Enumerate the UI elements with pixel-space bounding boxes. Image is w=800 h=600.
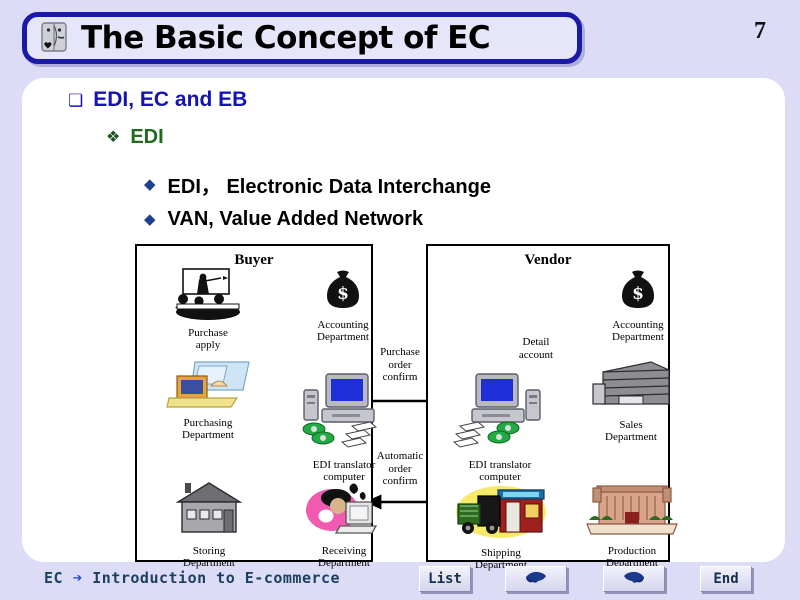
computer-with-disks-icon: [294, 372, 394, 457]
node-accounting-department-buyer-caption: Accounting Department: [305, 319, 381, 344]
node-production-department: Production Department: [582, 482, 682, 570]
node-accounting-department-vendor: $ Accounting Department: [600, 268, 676, 344]
previous-button[interactable]: [505, 566, 567, 592]
node-accounting-department-vendor-caption: Accounting Department: [600, 319, 676, 344]
meeting-presentation-icon: [162, 268, 254, 325]
node-purchasing-department: Purchasing Department: [160, 360, 256, 442]
money-bag-icon: $: [600, 268, 676, 317]
page-title: The Basic Concept of EC: [81, 23, 490, 54]
computer-with-disks-icon: [450, 372, 550, 457]
node-edi-translator-computer-vendor: EDI translator computer: [450, 372, 550, 484]
node-accounting-department-buyer: $ Accounting Department: [305, 268, 381, 344]
list-button-label: List: [428, 571, 462, 587]
next-button[interactable]: [603, 566, 665, 592]
node-storing-department-caption: Storing Department: [166, 545, 252, 570]
end-button-label: End: [713, 571, 738, 587]
slide-title-box: The Basic Concept of EC: [22, 12, 582, 64]
panel-vendor-title: Vendor: [428, 252, 668, 269]
node-shipping-department: Shipping Department: [452, 482, 550, 572]
edi-flow-diagram: Buyer: [22, 78, 785, 562]
node-purchase-apply-caption: Purchase apply: [162, 327, 254, 352]
warehouse-icon: [166, 480, 252, 543]
label-purchase-order-confirm: Purchase order confirm: [371, 346, 429, 384]
node-receiving-department: Receiving Department: [298, 476, 390, 570]
label-automatic-order-confirm: Automatic order confirm: [371, 450, 429, 488]
office-building-icon: [584, 360, 678, 417]
truck-store-icon: [452, 482, 550, 545]
finder-face-icon: [35, 18, 75, 58]
breadcrumb-prefix: EC: [44, 569, 63, 587]
money-bag-icon: $: [305, 268, 381, 317]
breadcrumb-label: Introduction to E-commerce: [92, 569, 340, 587]
desk-workstation-icon: [160, 360, 256, 415]
slide-canvas: The Basic Concept of EC 7 ❏ EDI, EC and …: [0, 0, 800, 600]
factory-building-icon: [582, 482, 682, 543]
node-sales-department-caption: Sales Department: [584, 419, 678, 444]
svg-text:$: $: [632, 284, 644, 304]
node-purchasing-department-caption: Purchasing Department: [160, 417, 256, 442]
end-button[interactable]: End: [700, 566, 752, 592]
node-purchase-apply: Purchase apply: [162, 268, 254, 352]
node-edi-translator-computer-vendor-caption: EDI translator computer: [450, 459, 550, 484]
hand-pointer-right-icon: [621, 570, 647, 588]
footer-breadcrumb: EC ➔ Introduction to E-commerce: [44, 568, 340, 587]
hand-pointer-left-icon: [523, 570, 549, 588]
label-detail-account: Detail account: [506, 336, 566, 361]
node-storing-department: Storing Department: [166, 480, 252, 570]
page-number: 7: [754, 18, 766, 45]
node-receiving-department-caption: Receiving Department: [298, 545, 390, 570]
panel-buyer-title: Buyer: [137, 252, 371, 269]
list-button[interactable]: List: [419, 566, 471, 592]
node-sales-department: Sales Department: [584, 360, 678, 444]
breadcrumb-arrow-icon: ➔: [73, 568, 83, 587]
svg-text:$: $: [337, 284, 349, 304]
content-card: ❏ EDI, EC and EB ❖ EDI ◆ EDI， Electronic…: [22, 78, 785, 562]
